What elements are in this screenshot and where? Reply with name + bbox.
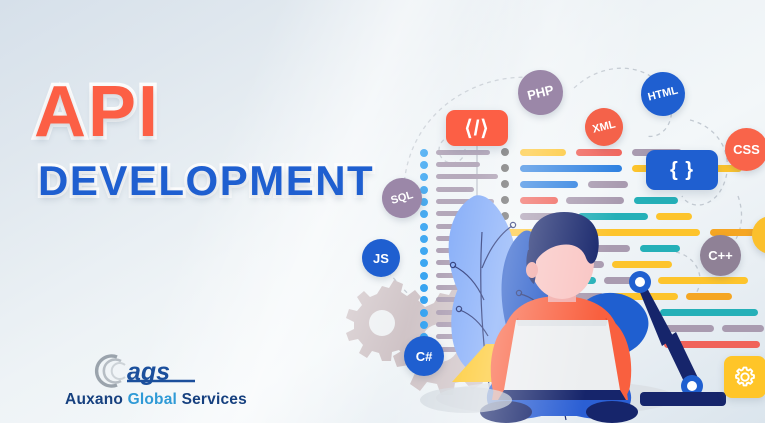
company-name-word1: Auxano	[65, 391, 123, 408]
tech-badge-php-label: PHP	[526, 82, 556, 103]
company-name-word2: Global	[128, 391, 177, 408]
tech-badge-cpp-label: C++	[708, 248, 733, 263]
tech-badge-cpp: C++	[700, 235, 741, 276]
tech-badge-sql-label: SQL	[389, 189, 414, 207]
company-name-word3: Services	[182, 391, 247, 408]
tech-badge-js-label: JS	[373, 251, 389, 266]
code-tag-card: ⟨/⟩	[446, 110, 508, 146]
gear-icon	[733, 365, 757, 389]
tech-badge-html-label: HTML	[647, 84, 680, 103]
tech-badge-js: JS	[362, 239, 400, 277]
page-title-development: DEVELOPMENT	[38, 160, 374, 202]
braces-glyph: { }	[670, 159, 694, 182]
company-logo[interactable]: ags Auxano Global Services	[56, 353, 256, 409]
tech-badge-csharp: C#	[404, 336, 444, 376]
tech-badge-xml-label: XML	[591, 118, 616, 135]
tech-badge-css-label: CSS	[733, 142, 760, 157]
tech-badge-csharp-label: C#	[416, 349, 433, 364]
braces-card: { }	[646, 150, 718, 190]
code-tag-glyph: ⟨/⟩	[464, 116, 489, 141]
company-name: Auxano Global Services	[56, 391, 256, 409]
headline-group: API DEVELOPMENT	[34, 78, 374, 202]
page-title-api: API	[34, 78, 374, 146]
ags-logo-mark: ags	[91, 353, 221, 389]
tech-badge-css: CSS	[725, 128, 765, 171]
api-development-banner: API DEVELOPMENT ⟨/⟩ { } PHP HTML XML CSS…	[0, 0, 765, 423]
gear-settings-button[interactable]	[724, 356, 765, 398]
ground-shadow	[420, 387, 512, 413]
